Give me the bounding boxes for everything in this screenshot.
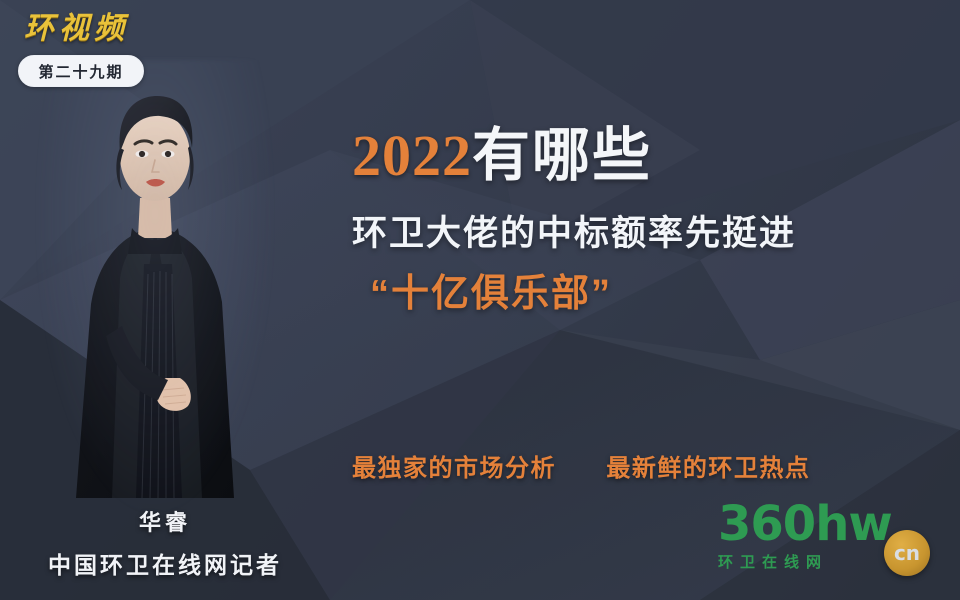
logo-tld-label: cn <box>894 541 920 565</box>
headline-line-1-rest: 有哪些 <box>472 123 652 188</box>
tagline-block: 最独家的市场分析 最新鲜的环卫热点 <box>352 448 810 483</box>
headline-line-2: 环卫大佬的中标额率先挺进 <box>352 214 942 254</box>
brand-block: 环视频 第二十九期 <box>18 14 168 87</box>
presenter-name: 华睿 <box>0 505 330 537</box>
presenter-portrait <box>62 78 248 498</box>
headline-line-3: “十亿俱乐部” <box>352 273 942 317</box>
portrait-glow <box>36 60 274 512</box>
tagline-left: 最独家的市场分析 <box>352 455 556 482</box>
headline-line-1: 2022有哪些 <box>352 126 942 187</box>
headline-year: 2022 <box>352 123 472 188</box>
video-cover-poster: 环视频 第二十九期 2022有哪些 环卫大佬的中标额率先挺进 “十亿俱乐部” 最… <box>0 0 960 600</box>
brand-title: 环视频 <box>18 14 168 44</box>
episode-badge: 第二十九期 <box>18 55 144 87</box>
presenter-role: 中国环卫在线网记者 <box>0 546 330 580</box>
presenter-caption: 华睿 中国环卫在线网记者 <box>0 505 330 580</box>
episode-badge-label: 第二十九期 <box>38 61 123 82</box>
logo-tld-badge: cn <box>884 530 930 576</box>
site-logo[interactable]: 360hw 环卫在线网 cn <box>718 500 936 582</box>
headline-block: 2022有哪些 环卫大佬的中标额率先挺进 “十亿俱乐部” <box>352 126 942 317</box>
tagline-right: 最新鲜的环卫热点 <box>606 455 810 482</box>
